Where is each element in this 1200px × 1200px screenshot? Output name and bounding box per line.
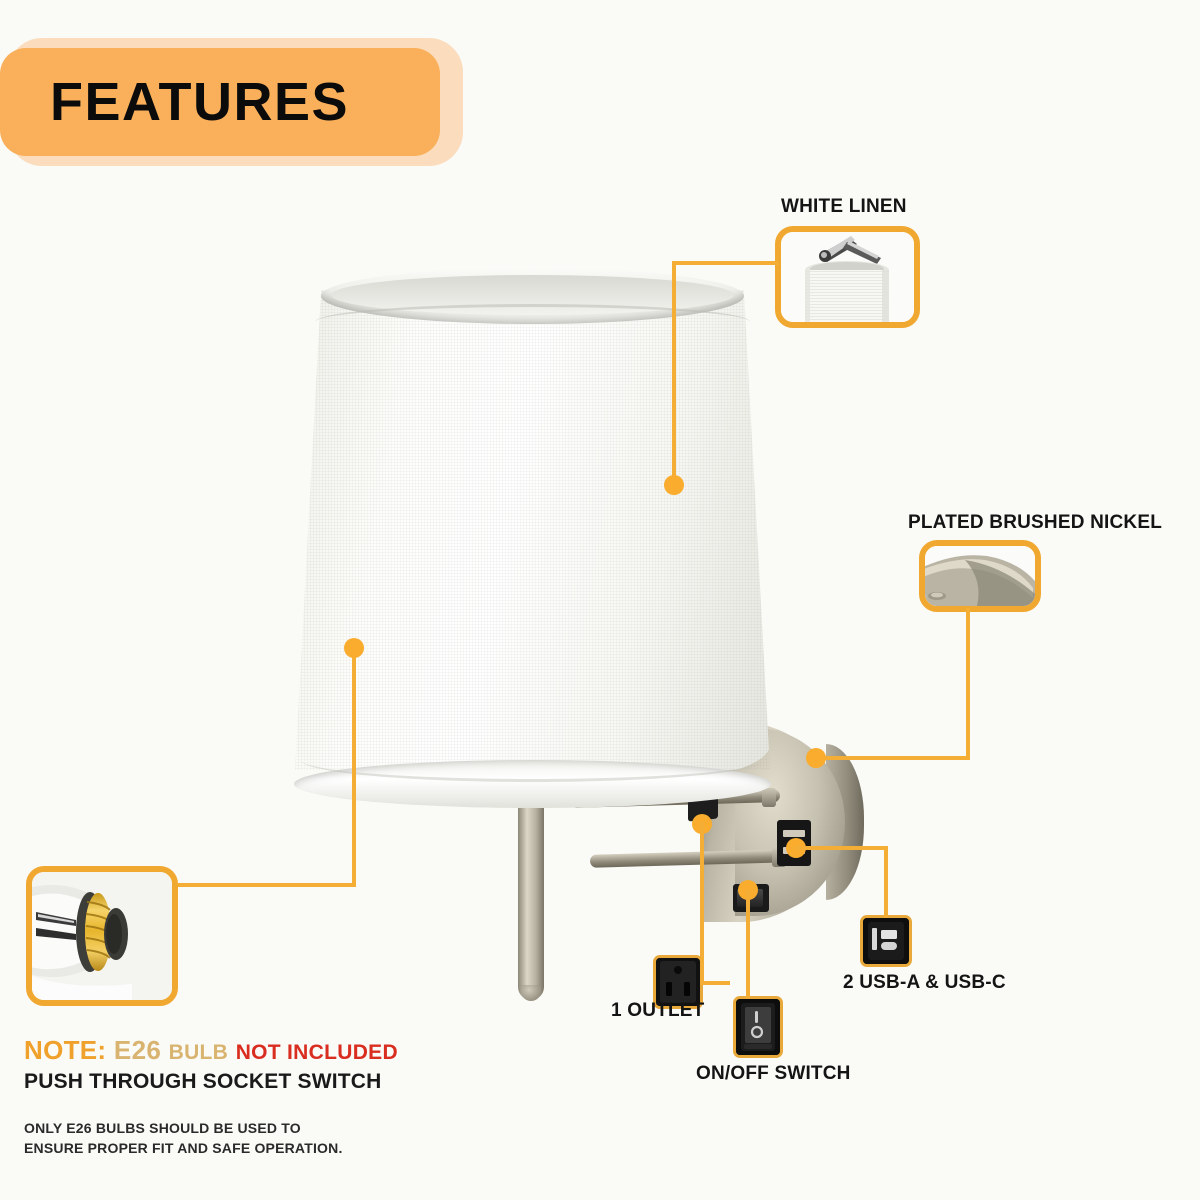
note-block: NOTE: E26 BULB NOT INCLUDED PUSH THROUGH… <box>24 1035 444 1094</box>
shade-linen-texture <box>295 290 770 790</box>
shade-top-rim <box>321 268 744 324</box>
features-banner-fill: FEATURES <box>0 48 440 156</box>
white-linen-photo <box>781 232 914 322</box>
connector-outlet-h <box>700 981 730 985</box>
callout-label-on-off-switch: ON/OFF SWITCH <box>696 1063 851 1085</box>
lamp-swing-arm-upper <box>570 789 780 808</box>
note-fine-print: ONLY E26 BULBS SHOULD BE USED TO ENSURE … <box>24 1118 444 1159</box>
outlet-photo <box>656 958 700 1006</box>
page-title: FEATURES <box>50 71 349 133</box>
infographic-canvas: FEATURES WHITE LINEN <box>0 0 1200 1200</box>
usb-ports-photo <box>863 918 909 964</box>
shade-bottom-edge <box>301 738 764 782</box>
thumbnail-usb-ports <box>860 915 912 967</box>
callout-label-usb-ports: 2 USB-A & USB-C <box>843 972 1006 994</box>
thumbnail-on-off-switch <box>733 996 783 1058</box>
inset-photo-white-linen <box>775 226 920 328</box>
shade-bottom-rim <box>294 760 771 808</box>
note-fine-line-1: ONLY E26 BULBS SHOULD BE USED TO <box>24 1118 444 1138</box>
hotspot-dot-e26-bulb <box>344 638 364 658</box>
callout-label-plated-brushed-nickel: PLATED BRUSHED NICKEL <box>908 512 1162 534</box>
lamp-swing-arm-lower <box>590 849 790 868</box>
connector-usb-v <box>884 846 888 918</box>
lamp-post-finial <box>521 985 541 1001</box>
lamp-arm-joint-upper <box>762 788 776 807</box>
callout-label-white-linen: WHITE LINEN <box>781 196 907 218</box>
connector-e26-v <box>352 652 356 887</box>
shade-body <box>295 290 770 790</box>
note-socket-switch: PUSH THROUGH SOCKET SWITCH <box>24 1070 444 1094</box>
note-bulb-type: E26 <box>114 1035 161 1065</box>
note-bulb-word: BULB <box>169 1041 229 1064</box>
inset-photo-brushed-nickel <box>919 540 1041 612</box>
on-off-switch-photo <box>736 999 780 1055</box>
shade-rim-band <box>315 304 750 340</box>
connector-white-linen-v <box>672 261 676 485</box>
lamp-shade <box>295 268 770 798</box>
brushed-nickel-photo <box>925 546 1035 606</box>
connector-nickel-v <box>966 608 970 760</box>
connector-outlet-v <box>700 822 704 984</box>
connector-nickel-h <box>818 756 970 760</box>
lamp-vertical-post <box>518 785 544 1000</box>
callout-label-outlet: 1 OUTLET <box>611 1000 704 1022</box>
hotspot-dot-white-linen <box>664 475 684 495</box>
note-headline: NOTE: E26 BULB NOT INCLUDED <box>24 1035 444 1066</box>
lamp-arm-joint-lower <box>772 848 786 867</box>
connector-e26-h <box>178 883 356 887</box>
features-banner: FEATURES <box>8 38 463 166</box>
connector-switch-v <box>746 890 750 998</box>
hotspot-dot-brushed-nickel <box>806 748 826 768</box>
lamp-backplate-edge <box>826 744 864 900</box>
inset-photo-e26-bulb <box>26 866 178 1006</box>
note-not-included: NOT INCLUDED <box>236 1041 398 1064</box>
note-fine-line-2: ENSURE PROPER FIT AND SAFE OPERATION. <box>24 1138 444 1158</box>
note-prefix: NOTE: <box>24 1035 106 1065</box>
connector-usb-h <box>794 846 888 850</box>
e26-bulb-photo <box>32 872 172 1000</box>
connector-white-linen-h <box>672 261 778 265</box>
